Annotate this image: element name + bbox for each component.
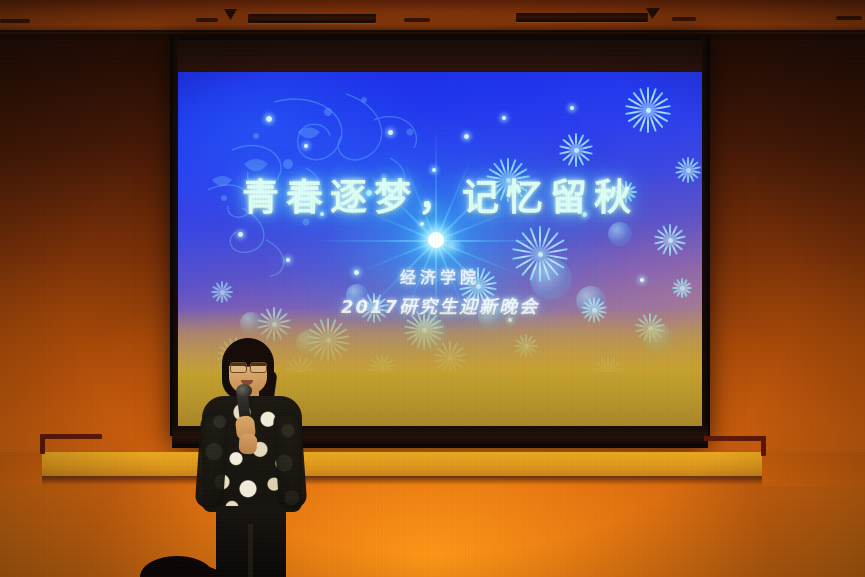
projected-slide: 青春逐梦，记忆留秋 经济学院 2017研究生迎新晚会	[178, 72, 702, 372]
ceiling-vent-slot	[196, 18, 218, 22]
sparkle-dot	[304, 144, 308, 148]
stage-railing-right-post	[761, 436, 766, 456]
sparkle-dot	[420, 222, 424, 226]
sparkle-dot	[388, 130, 393, 135]
sparkle-dot	[266, 116, 272, 122]
daisy-flower	[625, 87, 671, 133]
ceiling-light-fixture	[516, 13, 648, 22]
sparkle-dot	[502, 116, 506, 120]
ledge-left-gap	[0, 452, 42, 486]
presenter-glasses	[229, 362, 267, 371]
daisy-flower	[654, 224, 686, 256]
sparkle-dot	[238, 232, 243, 237]
slide-subtitle-org: 经济学院	[178, 264, 702, 288]
screen-top-band	[178, 40, 702, 74]
stage-ledge	[0, 452, 865, 478]
sparkle-dot	[570, 106, 574, 110]
ceiling-vent-slot	[836, 16, 862, 20]
daisy-flower	[559, 133, 593, 167]
presenter-hand-lower	[238, 433, 257, 454]
ceiling	[0, 0, 865, 34]
ceiling-vent-slot	[672, 17, 696, 21]
presenter-pants	[216, 506, 286, 577]
stage-railing-left	[40, 434, 102, 439]
presenter-right-arm	[273, 411, 308, 509]
stage-ledge-shadow	[0, 476, 865, 485]
ledge-right-gap	[762, 452, 865, 486]
ceiling-vent-slot	[404, 18, 430, 22]
presenter	[196, 338, 308, 577]
ceiling-light-fixture	[248, 14, 376, 23]
bokeh-circle	[608, 222, 632, 246]
ceiling-vent-slot	[0, 19, 30, 23]
sparkle-dot	[464, 134, 469, 139]
bokeh-circle	[446, 240, 464, 258]
auditorium-stage-photo: 青春逐梦，记忆留秋 经济学院 2017研究生迎新晚会	[0, 0, 865, 577]
stage-railing-right	[704, 436, 766, 441]
slide-title: 青春逐梦，记忆留秋	[178, 167, 702, 221]
stage-railing-left-post	[40, 434, 45, 454]
sparkle-dot	[286, 258, 290, 262]
